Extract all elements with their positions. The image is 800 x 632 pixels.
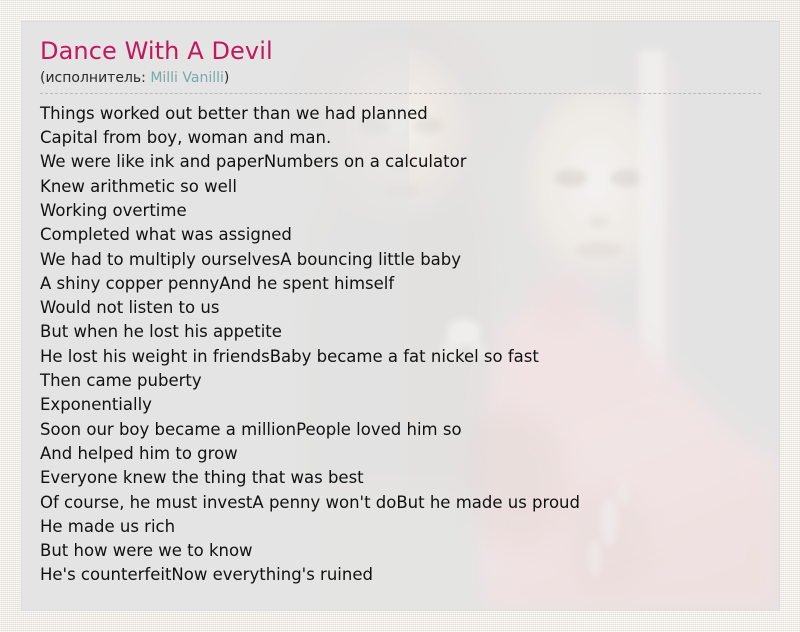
- song-header: Dance With A Devil (исполнитель: Milli V…: [40, 38, 761, 94]
- lyrics-body: Things worked out better than we had pla…: [40, 102, 761, 588]
- performer-label-close: ): [224, 70, 229, 86]
- lyrics-line: We had to multiply ourselvesA bouncing l…: [40, 248, 761, 272]
- lyrics-line: But how were we to know: [40, 539, 761, 563]
- lyrics-line: Completed what was assigned: [40, 223, 761, 247]
- performer-label-open: (исполнитель:: [40, 70, 150, 86]
- lyrics-line: He lost his weight in friendsBaby became…: [40, 345, 761, 369]
- lyrics-line: Capital from boy, woman and man.: [40, 126, 761, 150]
- lyrics-line: Things worked out better than we had pla…: [40, 102, 761, 126]
- lyrics-line: A shiny copper pennyAnd he spent himself: [40, 272, 761, 296]
- lyrics-line: He's counterfeitNow everything's ruined: [40, 563, 761, 587]
- lyrics-line: We were like ink and paperNumbers on a c…: [40, 150, 761, 174]
- lyrics-line: Would not listen to us: [40, 296, 761, 320]
- lyrics-line: Working overtime: [40, 199, 761, 223]
- lyrics-line: Exponentially: [40, 393, 761, 417]
- page-title: Dance With A Devil: [40, 38, 761, 66]
- lyrics-line: But when he lost his appetite: [40, 320, 761, 344]
- lyrics-line: Knew arithmetic so well: [40, 175, 761, 199]
- lyrics-line: Everyone knew the thing that was best: [40, 466, 761, 490]
- artist-link[interactable]: Milli Vanilli: [150, 70, 224, 86]
- lyrics-line: He made us rich: [40, 515, 761, 539]
- page-root: Dance With A Devil (исполнитель: Milli V…: [0, 0, 800, 632]
- performer-line: (исполнитель: Milli Vanilli): [40, 69, 761, 87]
- lyrics-line: Soon our boy became a millionPeople love…: [40, 418, 761, 442]
- lyrics-line: Of course, he must investA penny won't d…: [40, 491, 761, 515]
- card-content: Dance With A Devil (исполнитель: Milli V…: [22, 22, 779, 588]
- lyrics-card: Dance With A Devil (исполнитель: Milli V…: [21, 21, 780, 611]
- lyrics-line: And helped him to grow: [40, 442, 761, 466]
- lyrics-line: Then came puberty: [40, 369, 761, 393]
